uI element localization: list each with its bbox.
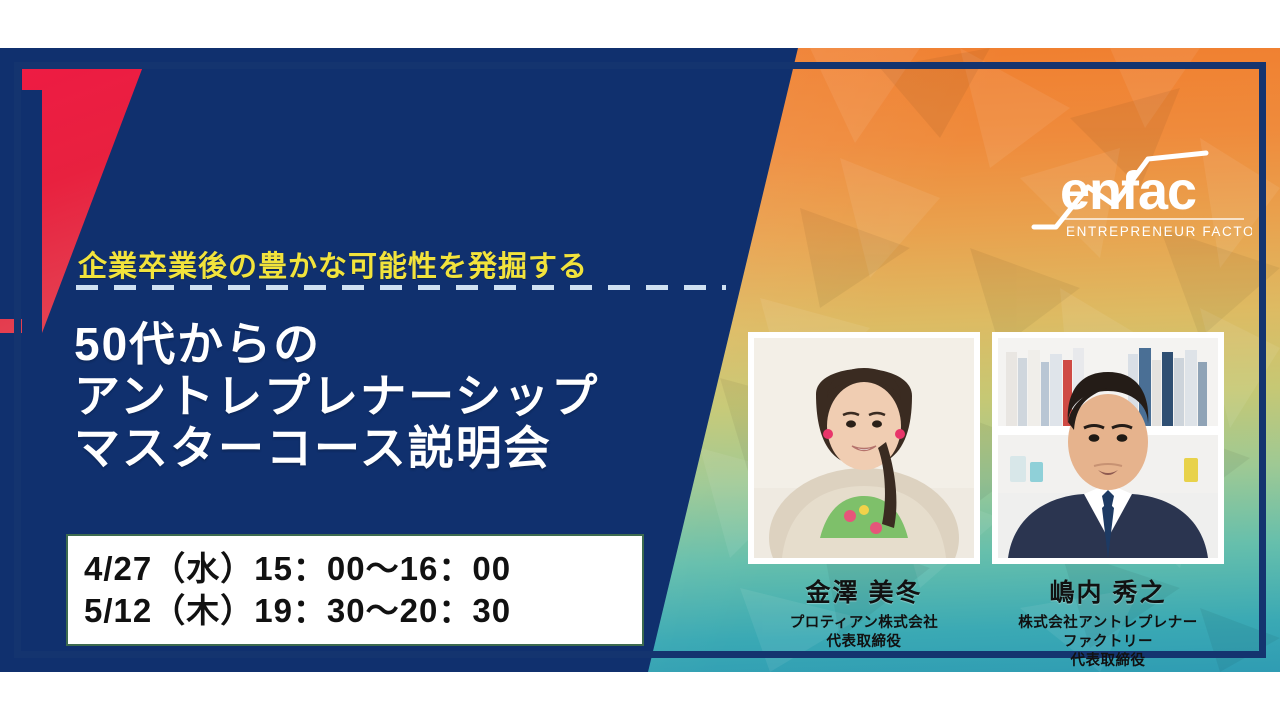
svg-text:ENTREPRENEUR FACTORY: ENTREPRENEUR FACTORY [1066,224,1252,239]
page-title: 50代からの アントレプレナーシップ マスターコース説明会 [74,318,599,474]
schedule-line-2: 5/12（木）19：30〜20：30 [84,590,642,632]
schedule-box: 4/27（水）15：00〜16：00 5/12（木）19：30〜20：30 [66,534,644,646]
speaker-card-1: 金澤 美冬 プロティアン株式会社 代表取締役 [748,332,980,652]
speaker-org-2-line-2: ファクトリー [992,633,1224,652]
title-line-3: マスターコース説明会 [74,422,599,474]
speaker-title-1: プロティアン株式会社 代表取締役 [748,614,980,652]
speaker-photo-2 [992,332,1224,564]
presentation-canvas: 企業卒業後の豊かな可能性を発掘する 50代からの アントレプレナーシップ マスタ… [0,0,1280,720]
schedule-line-1: 4/27（水）15：00〜16：00 [84,548,642,590]
speaker-name-2: 嶋内 秀之 [992,573,1224,609]
title-line-2: アントレプレナーシップ [74,370,599,422]
speaker-title-2: 株式会社アントレプレナー ファクトリー 代表取締役 [992,614,1224,671]
tagline: 企業卒業後の豊かな可能性を発掘する [78,243,588,285]
speaker-name-1: 金澤 美冬 [748,573,980,609]
svg-text:enfac: enfac [1060,161,1196,221]
enfac-logo: enfac ENTREPRENEUR FACTORY [1030,143,1252,243]
dashed-divider [76,285,726,290]
title-line-1: 50代からの [74,318,599,370]
speaker-org-1-line-2: 代表取締役 [748,633,980,652]
speaker-photo-1 [748,332,980,564]
speaker-org-2-line-3: 代表取締役 [992,652,1224,671]
seminar-slide: 企業卒業後の豊かな可能性を発掘する 50代からの アントレプレナーシップ マスタ… [0,48,1280,672]
speaker-card-2: 嶋内 秀之 株式会社アントレプレナー ファクトリー 代表取締役 [992,332,1224,671]
speaker-org-1-line-1: プロティアン株式会社 [748,614,980,633]
speaker-org-2-line-1: 株式会社アントレプレナー [992,614,1224,633]
